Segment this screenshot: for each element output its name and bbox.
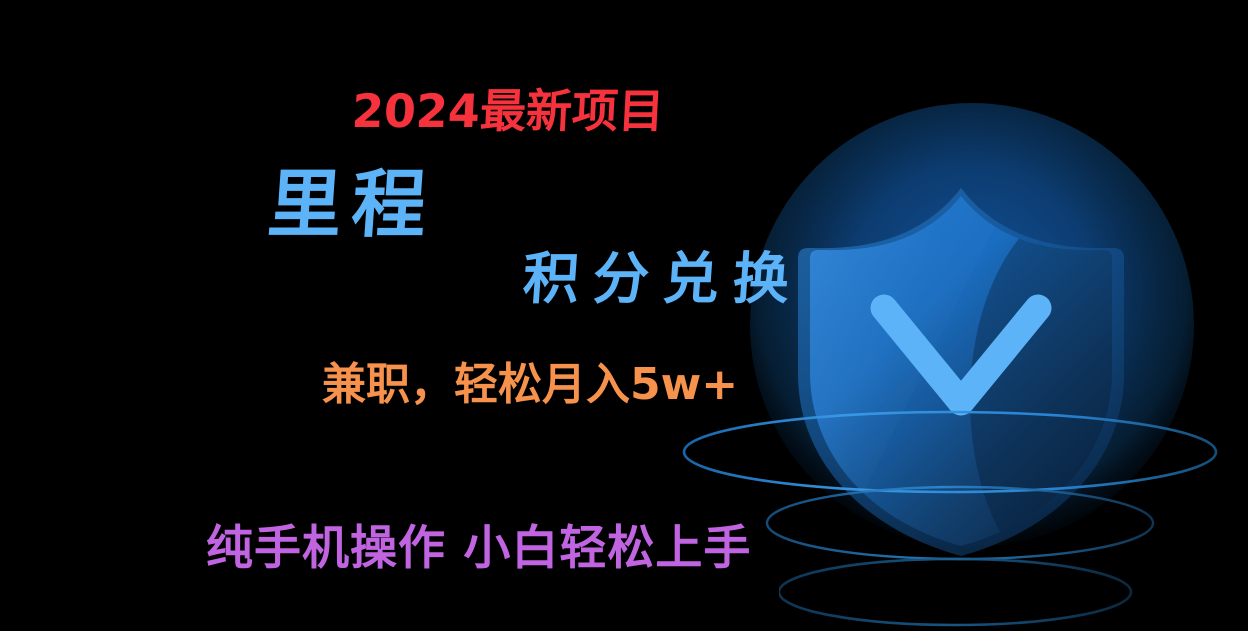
headline-points-exchange: 积分兑换 — [521, 252, 805, 308]
headline-ease-of-use: 纯手机操作 小白轻松上手 — [206, 525, 751, 572]
headline-year-project: 2024最新项目 — [351, 88, 665, 134]
promo-banner-canvas: 2024最新项目 里程 积分兑换 兼职，轻松月入5w+ 纯手机操作 小白轻松上手 — [0, 0, 1248, 631]
headline-income: 兼职，轻松月入5w+ — [322, 363, 738, 407]
headline-mileage: 里程 — [265, 168, 438, 242]
headline-stack: 2024最新项目 里程 积分兑换 兼职，轻松月入5w+ 纯手机操作 小白轻松上手 — [0, 0, 1248, 631]
